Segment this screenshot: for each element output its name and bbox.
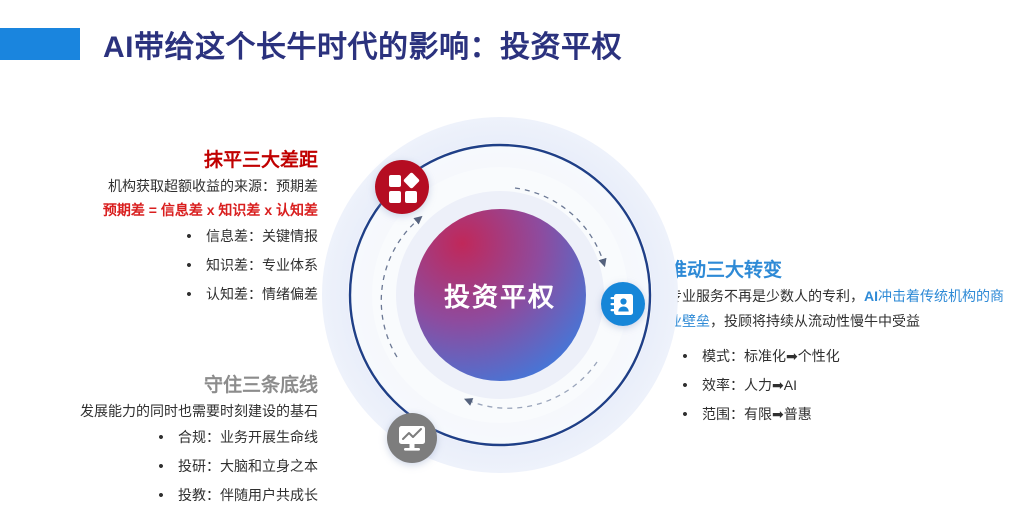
bullet-dot-icon: •: [172, 287, 206, 302]
list-item-label: 合规：业务开展生命线: [178, 423, 318, 452]
section-heading-gaps: 抹平三大差距: [18, 148, 318, 174]
list-item: • 认知差：情绪偏差: [18, 280, 318, 309]
section-formula-gaps: 预期差 = 信息差 x 知识差 x 认知差: [18, 198, 318, 222]
grid-blocks-icon-bg: [375, 160, 429, 214]
bullet-dot-icon: •: [144, 430, 178, 445]
bullet-dot-icon: •: [144, 488, 178, 503]
page-title: AI带给这个长牛时代的影响：投资平权: [0, 22, 622, 66]
badge-grid-blocks[interactable]: [375, 160, 429, 214]
section-drive-three-shifts: 推动三大转变 专业服务不再是少数人的专利，AI冲击着传统机构的商业壁垒，投顾将持…: [668, 258, 1004, 429]
list-item-label: 投教：伴随用户共成长: [178, 481, 318, 510]
section-paragraph-shifts: 专业服务不再是少数人的专利，AI冲击着传统机构的商业壁垒，投顾将持续从流动性慢牛…: [668, 284, 1004, 334]
list-item-label: 投研：大脑和立身之本: [178, 452, 318, 481]
list-item-label: 模式：标准化➡个性化: [702, 342, 840, 371]
investment-equality-diagram: 投资平权: [317, 112, 683, 478]
badge-monitor-chart[interactable]: [387, 413, 437, 463]
title-accent-bar: [0, 28, 80, 60]
list-item-label: 信息差：关键情报: [206, 222, 318, 251]
bullet-dot-icon: •: [172, 258, 206, 273]
page-title-text: AI带给这个长牛时代的影响：投资平权: [103, 22, 622, 66]
section-close-three-gaps: 抹平三大差距 机构获取超额收益的来源：预期差 预期差 = 信息差 x 知识差 x…: [18, 148, 318, 309]
list-item: • 知识差：专业体系: [18, 251, 318, 280]
bullet-list-gaps: • 信息差：关键情报 • 知识差：专业体系 • 认知差：情绪偏差: [18, 222, 318, 309]
bullet-list-baselines: • 合规：业务开展生命线 • 投研：大脑和立身之本 • 投教：伴随用户共成长: [8, 423, 318, 510]
paragraph-part-1: 专业服务不再是少数人的专利，: [668, 288, 864, 304]
section-hold-three-baselines: 守住三条底线 发展能力的同时也需要时刻建设的基石 • 合规：业务开展生命线 • …: [8, 373, 318, 510]
badge-contact-card[interactable]: [601, 282, 645, 326]
list-item: • 投教：伴随用户共成长: [8, 481, 318, 510]
list-item: • 合规：业务开展生命线: [8, 423, 318, 452]
list-item: • 范围：有限➡普惠: [668, 400, 1004, 429]
section-heading-baselines: 守住三条底线: [8, 373, 318, 399]
list-item-label: 知识差：专业体系: [206, 251, 318, 280]
list-item-label: 认知差：情绪偏差: [206, 280, 318, 309]
paragraph-highlight-bold: AI: [864, 288, 878, 304]
bullet-dot-icon: •: [144, 459, 178, 474]
bullet-dot-icon: •: [172, 229, 206, 244]
list-item-label: 范围：有限➡普惠: [702, 400, 812, 429]
paragraph-part-2: ，投顾将持续从流动性慢牛中受益: [710, 313, 920, 329]
section-heading-shifts: 推动三大转变: [668, 258, 1004, 284]
list-item: • 模式：标准化➡个性化: [668, 342, 1004, 371]
list-item: • 效率：人力➡AI: [668, 371, 1004, 400]
list-item: • 投研：大脑和立身之本: [8, 452, 318, 481]
list-item-label: 效率：人力➡AI: [702, 371, 797, 400]
core-circle: [414, 209, 586, 381]
list-item: • 信息差：关键情报: [18, 222, 318, 251]
bullet-list-shifts: • 模式：标准化➡个性化 • 效率：人力➡AI • 范围：有限➡普惠: [668, 342, 1004, 429]
section-lead-baselines: 发展能力的同时也需要时刻建设的基石: [8, 399, 318, 423]
section-lead-gaps: 机构获取超额收益的来源：预期差: [18, 174, 318, 198]
